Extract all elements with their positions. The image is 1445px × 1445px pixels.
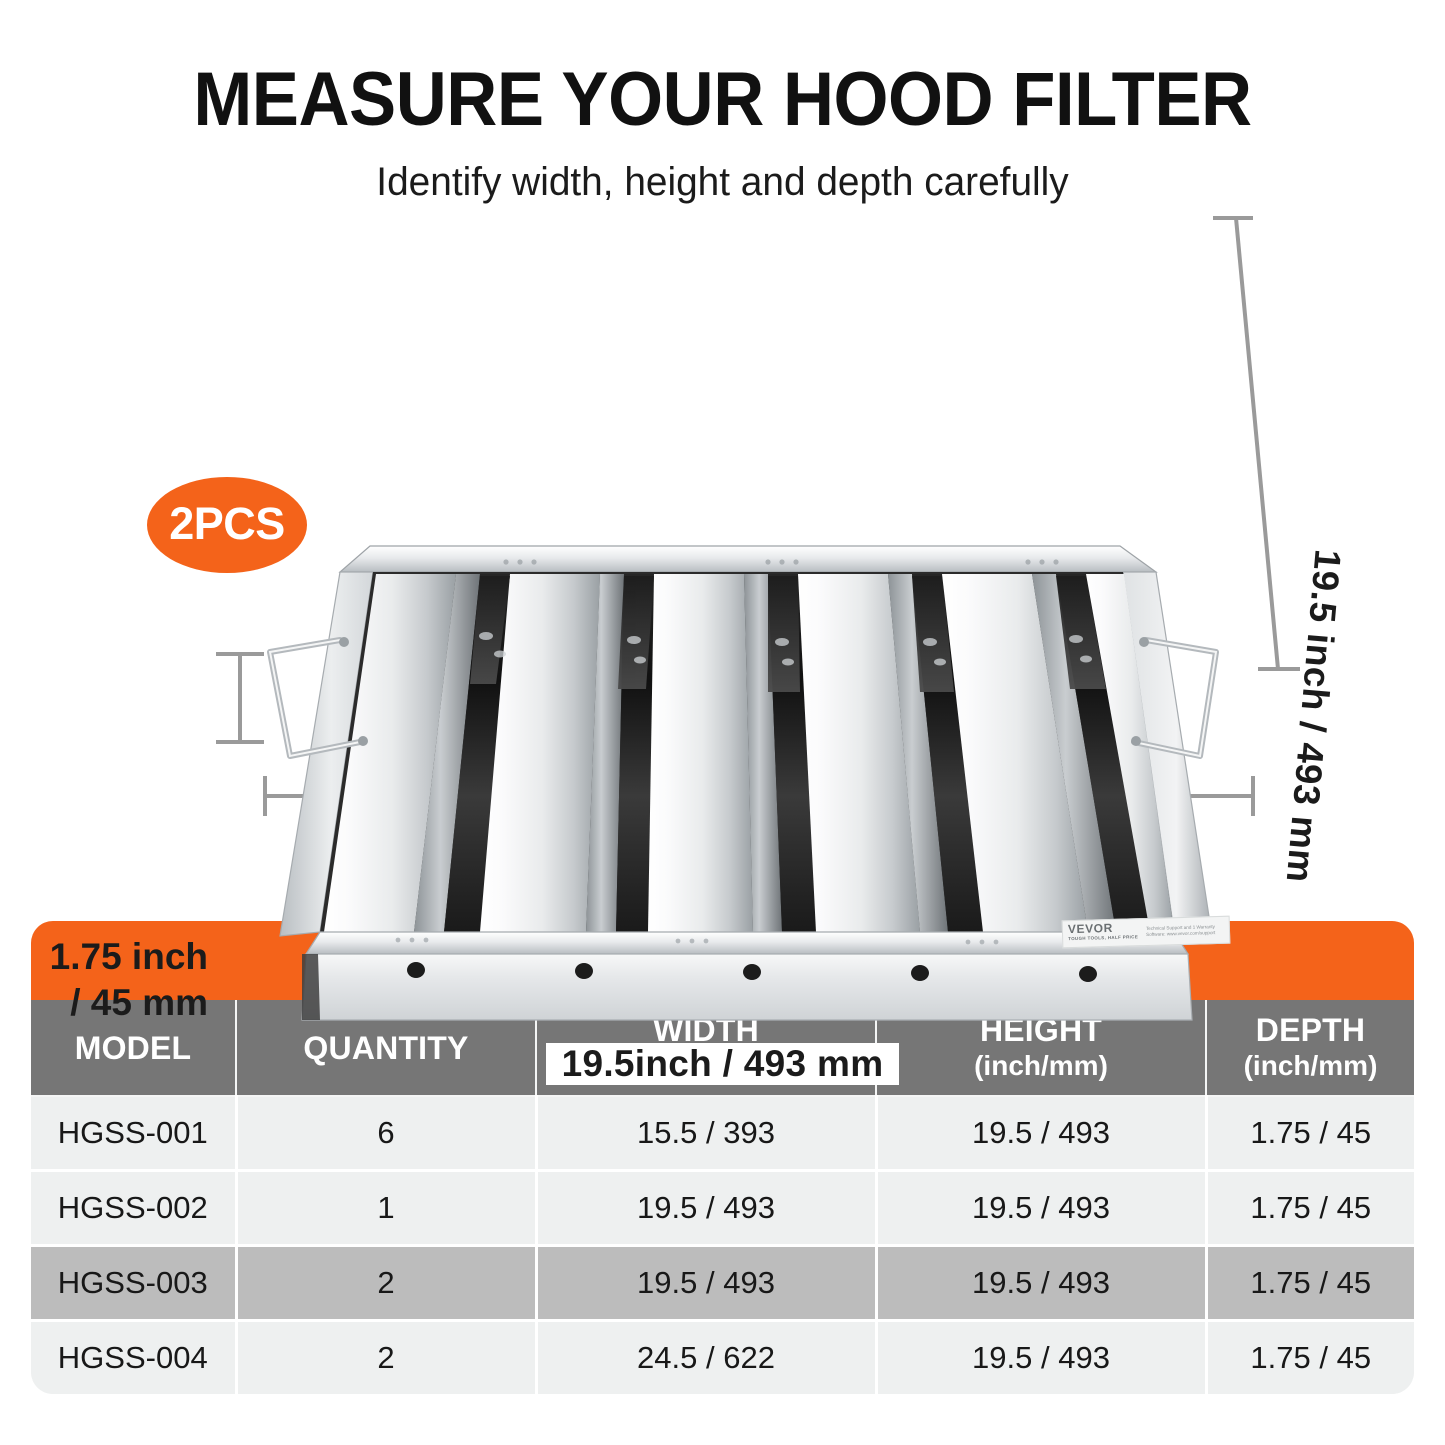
- dimension-height: 19.5 inch / 493 mm: [1253, 506, 1373, 926]
- dimension-height-label: 19.5 inch / 493 mm: [1278, 548, 1349, 885]
- table-cell-depth: 1.75 / 45: [1206, 1246, 1414, 1321]
- vevor-brand-block: VEVOR TOUGH TOOLS, HALF PRICE: [1063, 922, 1139, 944]
- page-subtitle: Identify width, height and depth careful…: [22, 158, 1424, 206]
- table-row[interactable]: HGSS-004224.5 / 62219.5 / 4931.75 / 45: [31, 1321, 1414, 1395]
- table-cell-width: 19.5 / 493: [536, 1246, 876, 1321]
- page-title: MEASURE YOUR HOOD FILTER: [51, 58, 1395, 142]
- table-cell-quantity: 6: [236, 1096, 536, 1171]
- table-cell-height: 19.5 / 493: [876, 1246, 1206, 1321]
- table-cell-depth: 1.75 / 45: [1206, 1171, 1414, 1246]
- dimension-depth-label-line1: 1.75 inch: [28, 934, 208, 980]
- quantity-badge-label: 2PCS: [169, 498, 285, 550]
- table-cell-model: HGSS-002: [31, 1171, 236, 1246]
- table-cell-width: 19.5 / 493: [536, 1171, 876, 1246]
- table-cell-model: HGSS-004: [31, 1321, 236, 1395]
- table-cell-depth: 1.75 / 45: [1206, 1096, 1414, 1171]
- table-cell-depth: 1.75 / 45: [1206, 1321, 1414, 1395]
- dimension-width: 19.5inch / 493 mm: [0, 1034, 1445, 1094]
- table-cell-model: HGSS-003: [31, 1246, 236, 1321]
- table-row[interactable]: HGSS-001615.5 / 39319.5 / 4931.75 / 45: [31, 1096, 1414, 1171]
- vevor-note-block: Technical Support and 1 Warranty Softwar…: [1138, 924, 1216, 938]
- table-cell-width: 24.5 / 622: [536, 1321, 876, 1395]
- quantity-badge: 2PCS: [147, 477, 307, 573]
- dimension-depth-label-line2: / 45 mm: [28, 980, 208, 1026]
- table-cell-height: 19.5 / 493: [876, 1096, 1206, 1171]
- table-row[interactable]: HGSS-003219.5 / 49319.5 / 4931.75 / 45: [31, 1246, 1414, 1321]
- dimension-depth: 1.75 inch / 45 mm: [28, 934, 208, 1026]
- table-cell-quantity: 1: [236, 1171, 536, 1246]
- header: MEASURE YOUR HOOD FILTER Identify width,…: [0, 0, 1445, 206]
- vevor-tagline: TOUGH TOOLS, HALF PRICE: [1063, 932, 1138, 944]
- table-cell-height: 19.5 / 493: [876, 1171, 1206, 1246]
- dimension-width-label: 19.5inch / 493 mm: [546, 1043, 900, 1085]
- table-cell-quantity: 2: [236, 1246, 536, 1321]
- table-cell-height: 19.5 / 493: [876, 1321, 1206, 1395]
- table-cell-model: HGSS-001: [31, 1096, 236, 1171]
- vevor-note-line2: Software: www.vevor.com/support: [1138, 930, 1215, 938]
- vevor-brand-label: VEVOR TOUGH TOOLS, HALF PRICE Technical …: [1062, 916, 1231, 949]
- table-row[interactable]: HGSS-002119.5 / 49319.5 / 4931.75 / 45: [31, 1171, 1414, 1246]
- table-cell-width: 15.5 / 393: [536, 1096, 876, 1171]
- product-hero: 2PCS: [0, 206, 1445, 876]
- size-table-body: HGSS-001615.5 / 39319.5 / 4931.75 / 45HG…: [31, 1096, 1414, 1394]
- table-cell-quantity: 2: [236, 1321, 536, 1395]
